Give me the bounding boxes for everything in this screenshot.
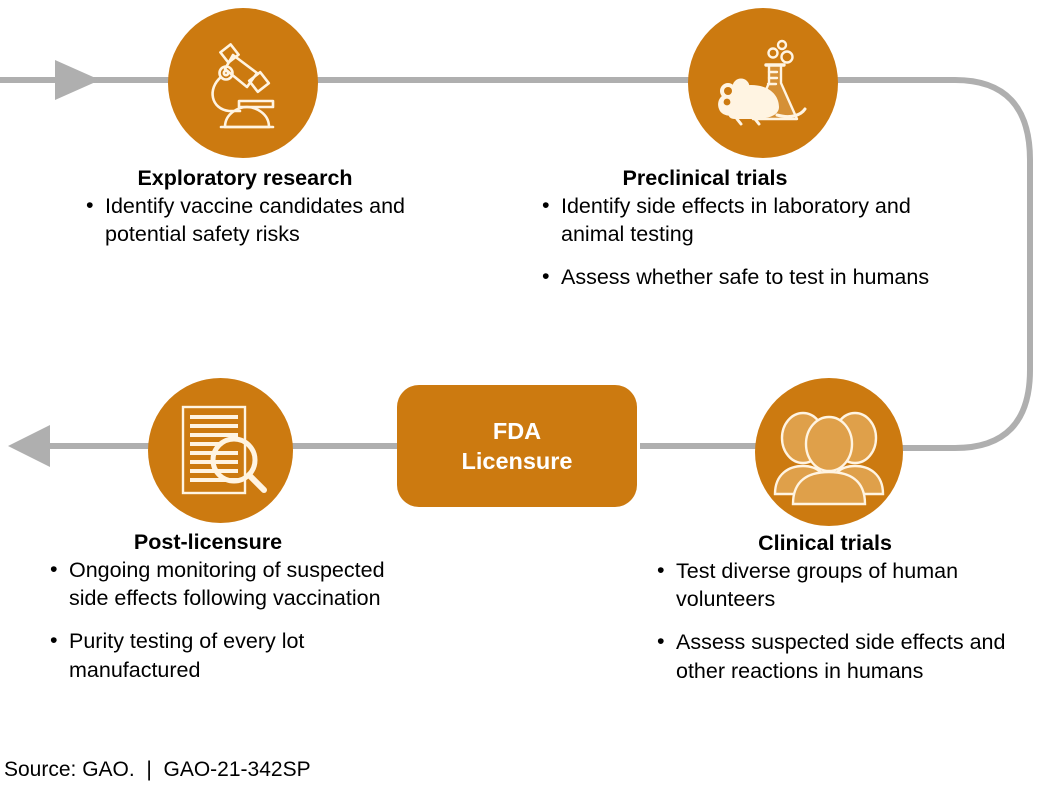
bullet-dot-icon: • [657,556,665,585]
list-item: •Identify vaccine candidates and potenti… [84,192,414,249]
bullet-text: Assess suspected side effects and other … [676,630,1005,683]
stage-heading-post-licensure: Post-licensure [48,530,398,555]
source-note: Source: GAO. | GAO-21-342SP [4,757,311,782]
stage-text-exploratory-research: Exploratory research •Identify vaccine c… [84,166,414,249]
stage-node-exploratory-research[interactable] [168,8,318,158]
bullet-text: Ongoing monitoring of suspected side eff… [69,558,385,611]
bullet-text: Identify vaccine candidates and potentia… [105,194,405,247]
bullet-dot-icon: • [86,191,94,220]
stage-node-post-licensure[interactable] [148,378,293,523]
stage-text-post-licensure: Post-licensure •Ongoing monitoring of su… [48,530,398,684]
bullet-list-post-licensure: •Ongoing monitoring of suspected side ef… [48,556,398,684]
stage-heading-clinical-trials: Clinical trials [655,531,1015,556]
bullet-list-preclinical-trials: •Identify side effects in laboratory and… [540,192,980,292]
list-item: •Assess whether safe to test in humans [540,263,980,292]
bullet-list-clinical-trials: •Test diverse groups of human volunteers… [655,557,1015,685]
arrow-right-icon [55,60,100,100]
bullet-text: Test diverse groups of human volunteers [676,559,958,612]
bullet-text: Identify side effects in laboratory and … [561,194,911,247]
bullet-list-exploratory-research: •Identify vaccine candidates and potenti… [84,192,414,249]
stage-heading-exploratory-research: Exploratory research [84,166,414,191]
fda-licensure-line2: Licensure [461,446,572,476]
arrow-left-icon [8,425,50,467]
list-item: •Purity testing of every lot manufacture… [48,627,398,684]
stage-text-clinical-trials: Clinical trials •Test diverse groups of … [655,531,1015,685]
bullet-text: Assess whether safe to test in humans [561,265,929,289]
bullet-text: Purity testing of every lot manufactured [69,629,304,682]
bullet-dot-icon: • [542,191,550,220]
bullet-dot-icon: • [542,262,550,291]
people-group-icon [765,388,893,516]
list-item: •Test diverse groups of human volunteers [655,557,1015,614]
microscope-icon [195,35,291,131]
document-magnifier-icon [171,401,271,501]
bullet-dot-icon: • [50,626,58,655]
bullet-dot-icon: • [50,555,58,584]
bullet-dot-icon: • [657,627,665,656]
stage-heading-preclinical-trials: Preclinical trials [540,166,980,191]
list-item: •Identify side effects in laboratory and… [540,192,980,249]
list-item: •Assess suspected side effects and other… [655,628,1015,685]
stage-node-preclinical-trials[interactable] [688,8,838,158]
fda-licensure-line1: FDA [493,416,541,446]
list-item: •Ongoing monitoring of suspected side ef… [48,556,398,613]
lab-mouse-flask-icon [711,31,815,135]
fda-licensure-box[interactable]: FDA Licensure [397,385,637,507]
stage-node-clinical-trials[interactable] [755,378,903,526]
stage-text-preclinical-trials: Preclinical trials •Identify side effect… [540,166,980,292]
